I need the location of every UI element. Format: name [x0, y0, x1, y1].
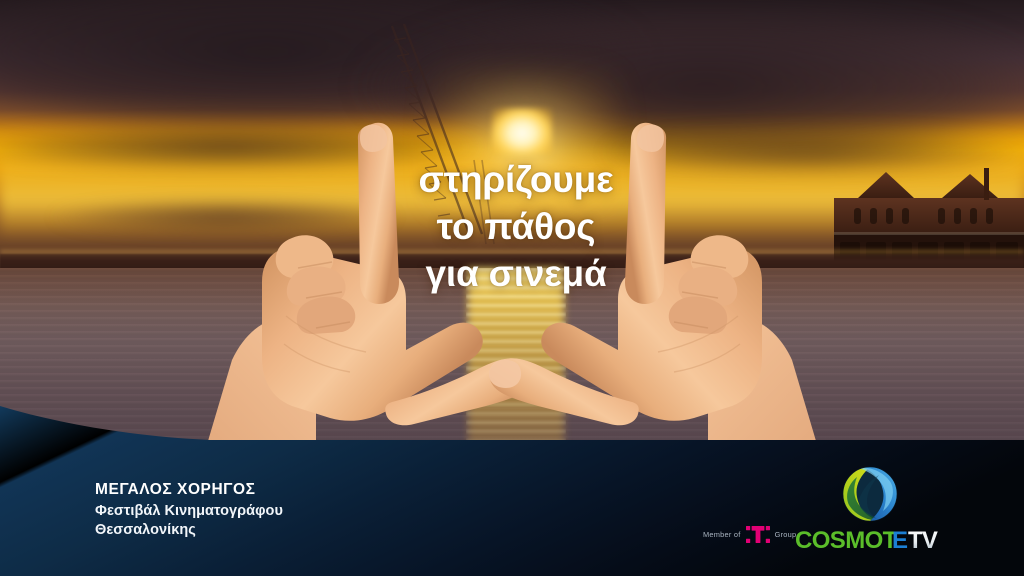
telekom-prefix-label: Member of	[703, 530, 741, 539]
cosmote-word-tv: TV	[908, 527, 938, 554]
sponsor-subtitle-line-2: Θεσσαλονίκης	[95, 521, 283, 540]
cosmote-tv-wordmark: COSMOT E TV	[795, 527, 945, 554]
telekom-suffix-label: Group	[775, 530, 797, 539]
sponsor-subtitle-line-1: Φεστιβάλ Κινηματογράφου	[95, 502, 283, 521]
headline-line-2: το πάθος	[398, 203, 634, 250]
cosmote-sphere-icon	[839, 465, 901, 523]
cosmote-tv-logo: COSMOT E TV	[795, 465, 945, 554]
telekom-t-icon	[746, 526, 770, 543]
advertisement-banner: στηρίζουμε το πάθος για σινεμά ΜΕΓΑΛΟΣ Χ…	[0, 0, 1024, 576]
headline-line-1: στηρίζουμε	[398, 156, 634, 203]
headline: στηρίζουμε το πάθος για σινεμά	[398, 156, 634, 297]
cosmote-word-green: COSMOT	[795, 527, 898, 554]
sponsor-title: ΜΕΓΑΛΟΣ ΧΟΡΗΓΟΣ	[95, 480, 283, 500]
sponsor-block: ΜΕΓΑΛΟΣ ΧΟΡΗΓΟΣ Φεστιβάλ Κινηματογράφου …	[95, 480, 283, 540]
headline-line-3: για σινεμά	[398, 250, 634, 297]
cosmote-word-blue: E	[892, 527, 908, 554]
telekom-member-logo: Member of Group	[703, 526, 796, 543]
